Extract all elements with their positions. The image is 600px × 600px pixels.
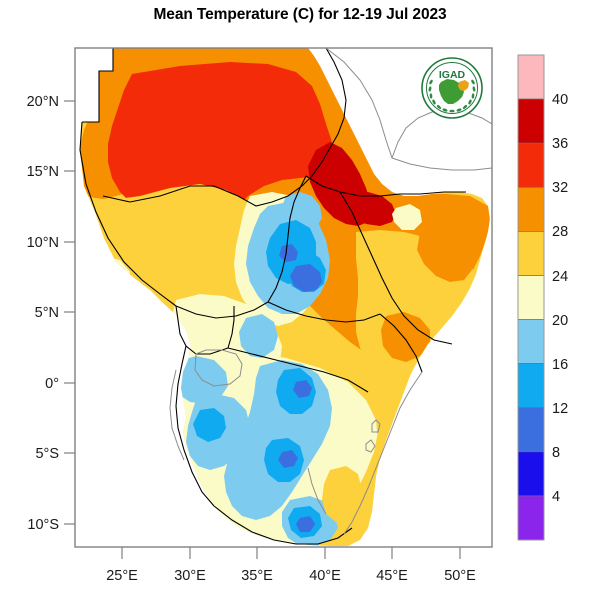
x-tick-label: 50°E: [444, 568, 476, 584]
colorbar-tick-label: 40: [552, 92, 568, 108]
colorbar-tick-label: 20: [552, 313, 568, 329]
colorbar-tick-label: 4: [552, 489, 560, 505]
colorbar-tick-label: 28: [552, 224, 568, 240]
y-tick-label: 5°S: [35, 446, 59, 462]
logo-label: IGAD: [439, 69, 466, 81]
colorbar-band: [518, 364, 544, 408]
colorbar-band: [518, 452, 544, 496]
y-axis: 20°N 15°N 10°N 5°N 0° 5°S 10°S: [27, 94, 75, 533]
y-tick-label: 10°S: [27, 517, 59, 533]
colorbar-tick-label: 24: [552, 269, 568, 285]
x-tick-label: 30°E: [174, 568, 206, 584]
x-tick-label: 45°E: [376, 568, 408, 584]
climate-map-page: Mean Temperature (C) for 12-19 Jul 2023: [0, 0, 600, 600]
igad-logo: IGAD: [422, 58, 482, 118]
colorbar-band: [518, 276, 544, 320]
colorbar-tick-label: 8: [552, 445, 560, 461]
colorbar-tick-label: 36: [552, 136, 568, 152]
colorbar-tick-label: 16: [552, 357, 568, 373]
colorbar-tick-label: 12: [552, 401, 568, 417]
y-tick-label: 0°: [45, 376, 59, 392]
colorbar-band: [518, 99, 544, 143]
x-axis: 25°E 30°E 35°E 40°E 45°E 50°E: [106, 547, 476, 584]
colorbar-band: [518, 496, 544, 540]
colorbar-tick-label: 32: [552, 180, 568, 196]
colorbar-band: [518, 408, 544, 452]
y-tick-label: 5°N: [35, 305, 59, 321]
temperature-field: [75, 48, 492, 547]
y-tick-label: 20°N: [27, 94, 59, 110]
colorbar: 40 36 32 28 24 20 16 12 8 4: [518, 55, 568, 540]
colorbar-band: [518, 320, 544, 364]
x-tick-label: 25°E: [106, 568, 138, 584]
x-tick-label: 40°E: [309, 568, 341, 584]
y-tick-label: 15°N: [27, 164, 59, 180]
colorbar-band: [518, 187, 544, 231]
colorbar-band: [518, 231, 544, 275]
colorbar-band: [518, 55, 544, 99]
y-tick-label: 10°N: [27, 235, 59, 251]
map-figure: 20°N 15°N 10°N 5°N 0° 5°S 10°S 25°E 30°E…: [0, 0, 600, 600]
x-tick-label: 35°E: [241, 568, 273, 584]
colorbar-band: [518, 143, 544, 187]
